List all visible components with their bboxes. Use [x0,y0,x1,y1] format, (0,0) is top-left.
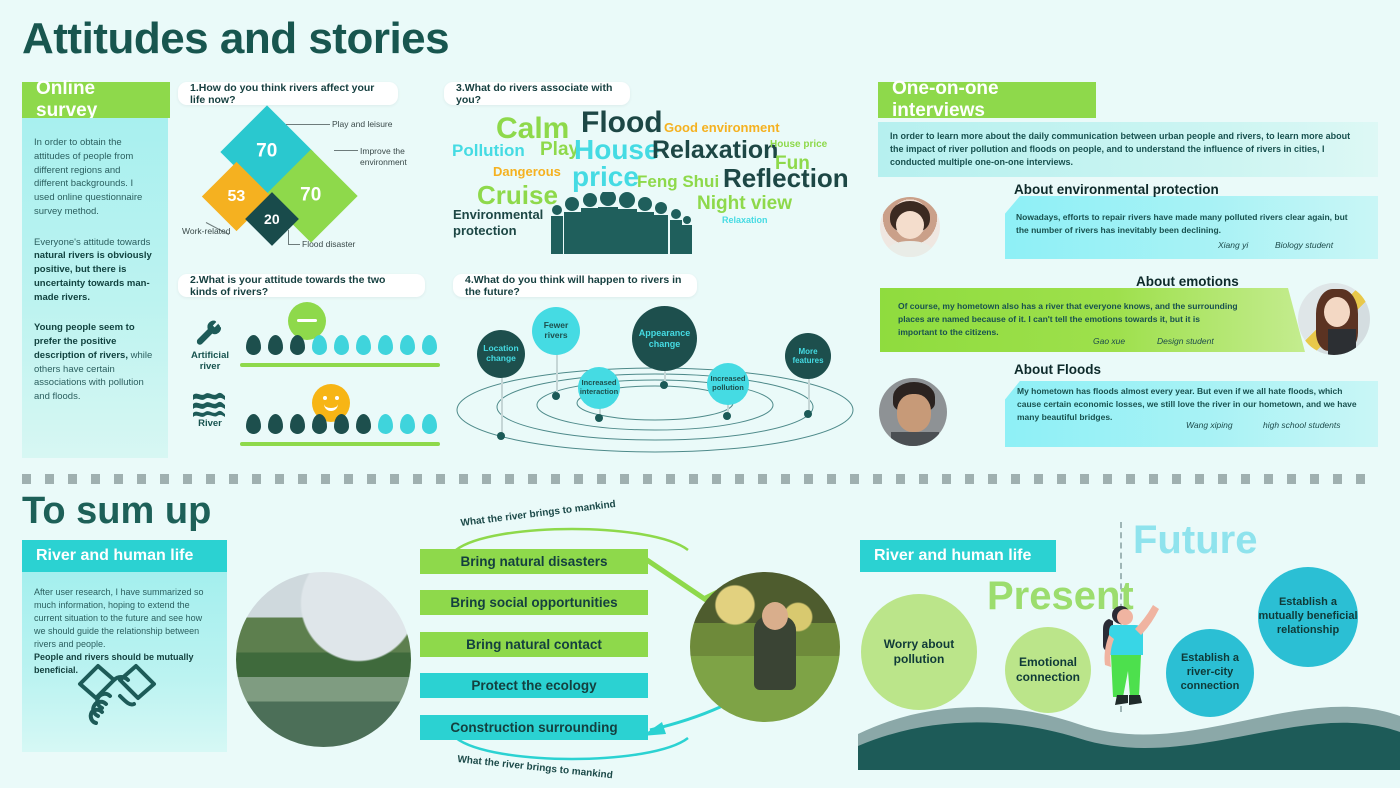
future-panel-label: River and human life [860,540,1056,572]
bubble-appearance-change: Appearance change [632,306,697,371]
bubble-base-dot [497,432,505,440]
crowd-silhouette-icon [545,192,693,254]
question-1-pill: 1.How do you think rivers affect your li… [178,82,398,105]
drop-filled [246,414,261,434]
interview-name-3: Wang xiping [1186,420,1233,430]
row-label-river: River [186,418,234,429]
question-2-pill: 2.What is your attitude towards the two … [178,274,425,297]
sumup-bar-3-label: Bring natural contact [466,637,602,652]
leader-flood-disaster-v [288,230,289,244]
bubble-river-city-connection-label: Establish a river-city connection [1166,652,1254,693]
sumup-bar-1: Bring natural disasters [420,549,648,574]
drop-filled [246,335,261,355]
future-panel-label-text: River and human life [874,547,1031,565]
drop-filled [356,414,371,434]
interview-quote-2: Of course, my hometown also has a river … [898,300,1238,338]
word-house-price: House price [770,139,827,150]
bubble-stem [501,372,503,435]
sumup-bar-5-label: Construction surrounding [450,720,617,735]
interview-name-2: Gao xue [1093,336,1125,346]
leader-play-leisure [286,124,330,125]
bubble-stem [808,378,810,414]
bubble-location-change-label: Location change [477,344,525,364]
bubble-increased-pollution: Increased pollution [707,363,749,405]
survey-intro-panel: In order to obtain the attitudes of peop… [22,118,168,458]
survey-finding-1-lead: Everyone's attitude towards [34,237,150,248]
waves-icon [192,390,226,420]
bubble-fewer-rivers-label: Fewer rivers [532,321,580,341]
sumup-panel: After user research, I have summarized s… [22,572,227,752]
drop-filled [290,335,305,355]
row-label-river-text: River [198,418,222,429]
interview-title-2: About emotions [1136,274,1239,289]
leader-improve-environment [334,150,358,151]
bubble-mutually-beneficial-relationship-label: Establish a mutually beneficial relation… [1258,596,1358,637]
photo-girl-in-grass [690,572,840,722]
interviews-label-text: One-on-one interviews [892,78,1082,122]
bubble-increased-pollution-label: Increased pollution [707,375,749,392]
diamond-flood-disaster-value: 20 [264,211,280,227]
drop-empty [334,335,349,355]
question-4-pill: 4.What do you think will happen to river… [453,274,697,297]
drop-filled [312,414,327,434]
diamond-play-leisure-value: 70 [256,141,277,163]
sumup-bar-4: Protect the ecology [420,673,648,698]
bubble-more-features-label: More features [785,347,831,365]
drop-empty [378,414,393,434]
word-price: price [572,161,639,193]
bubble-base-dot [595,414,603,422]
avatar-wang-xiping [879,378,947,446]
diamond-label-improve-environment-text: Improve the environment [360,146,407,167]
underline-artificial-river [240,363,440,367]
page-title: Attitudes and stories [22,14,449,64]
diamond-label-flood-disaster: Flood disaster [302,239,355,250]
question-2-text: 2.What is your attitude towards the two … [190,274,413,298]
sumup-bar-3: Bring natural contact [420,632,648,657]
summary-title: To sum up [22,490,211,533]
leader-flood-disaster-h [288,244,300,245]
drop-empty [378,335,393,355]
interview-role-2: Design student [1157,336,1214,346]
drop-empty [312,335,327,355]
photo-forest-lake [236,572,411,747]
bubble-fewer-rivers: Fewer rivers [532,307,580,355]
word-night-view: Night view [697,193,792,215]
bubble-emotional-connection: Emotional connection [1005,627,1091,713]
person-pointing-illustration [1095,595,1165,720]
sumup-bar-2-label: Bring social opportunities [450,595,617,610]
bubble-worry-about-pollution-label: Worry about pollution [861,637,977,667]
diamond-label-work-related: Work-related [182,226,231,237]
bubble-worry-about-pollution: Worry about pollution [861,594,977,710]
infographic-page: Attitudes and stories Online survey In o… [0,0,1400,788]
survey-finding-1: Everyone's attitude towards natural rive… [34,236,156,305]
sumup-panel-label-text: River and human life [36,547,193,565]
bubble-appearance-change-label: Appearance change [632,328,697,349]
row-label-artificial-river-text: Artificial river [191,350,229,372]
bubble-mutually-beneficial-relationship: Establish a mutually beneficial relation… [1258,567,1358,667]
bubble-increased-interaction: Increased interaction [578,367,620,409]
word-pollution: Pollution [452,141,525,161]
survey-finding-2-bold: Young people seem to prefer the positive… [34,322,135,361]
bubble-location-change: Location change [477,330,525,378]
question-3-pill: 3.What do rivers associate with you? [444,82,630,105]
avatar-gao-xue [1298,283,1370,355]
sumup-panel-text-1: After user research, I have summarized s… [34,586,215,651]
word-environmental-protection: Environmental protection [453,207,548,238]
drop-empty [356,335,371,355]
interview-name-1: Xiang yi [1218,240,1248,250]
word-environmental-protection-text: Environmental protection [453,207,543,238]
drop-empty [400,414,415,434]
diamond-label-play-leisure: Play and leisure [332,119,392,130]
bubble-increased-interaction-label: Increased interaction [578,379,620,396]
question-4-text: 4.What do you think will happen to river… [465,274,685,298]
question-3-text: 3.What do rivers associate with you? [456,82,618,106]
sumup-bar-2: Bring social opportunities [420,590,648,615]
interview-quote-3: My hometown has floods almost every year… [1017,385,1362,423]
online-survey-label: Online survey [22,82,170,118]
interview-role-1: Biology student [1275,240,1333,250]
bubble-base-dot [723,412,731,420]
drop-empty [422,414,437,434]
survey-intro-text: In order to obtain the attitudes of peop… [34,136,156,219]
drop-empty [400,335,415,355]
drop-empty [422,335,437,355]
future-word: Future [1133,518,1257,563]
drop-filled [290,414,305,434]
question-1-text: 1.How do you think rivers affect your li… [190,82,386,106]
bubble-more-features: More features [785,333,831,379]
sumup-bar-1-label: Bring natural disasters [460,554,607,569]
interview-title-1: About environmental protection [1014,182,1219,197]
interview-quote-1: Nowadays, efforts to repair rivers have … [1016,211,1361,237]
drop-filled [268,414,283,434]
row-label-artificial-river: Artificial river [186,350,234,373]
word-relaxation-small: Relaxation [722,215,768,225]
survey-finding-1-bold: natural rivers is obviously positive, bu… [34,250,152,302]
interview-title-3: About Floods [1014,362,1101,377]
section-divider [22,474,1378,484]
word-feng-shui: Feng Shui [637,172,719,192]
drop-filled [268,335,283,355]
interview-role-3: high school students [1263,420,1341,430]
bubble-stem [556,350,558,396]
diamond-improve-environment-value: 70 [300,185,321,207]
bubble-emotional-connection-label: Emotional connection [1005,655,1091,685]
underline-river [240,442,440,446]
word-relaxation-big: Relaxation [652,136,778,165]
wrench-icon [194,318,224,348]
ripple-rings [455,365,855,455]
drop-filled [334,414,349,434]
survey-finding-2: Young people seem to prefer the positive… [34,321,156,404]
handshake-icon [72,652,162,732]
bubble-river-city-connection: Establish a river-city connection [1166,629,1254,717]
word-dangerous: Dangerous [493,164,561,179]
interviews-intro: In order to learn more about the daily c… [878,122,1378,177]
diamond-work-related-value: 53 [228,187,246,205]
word-fun: Fun [775,153,810,175]
interviews-label: One-on-one interviews [878,82,1096,118]
bubble-base-dot [804,410,812,418]
sumup-bar-4-label: Protect the ecology [471,678,596,693]
bubble-base-dot [552,392,560,400]
avatar-xiang-yi [880,197,940,257]
word-good-environment: Good environment [664,120,780,135]
sumup-panel-label: River and human life [22,540,227,572]
bubble-base-dot [660,381,668,389]
interviews-intro-text: In order to learn more about the daily c… [890,131,1350,167]
diamond-label-improve-environment: Improve the environment [360,146,407,168]
online-survey-label-text: Online survey [36,78,156,122]
